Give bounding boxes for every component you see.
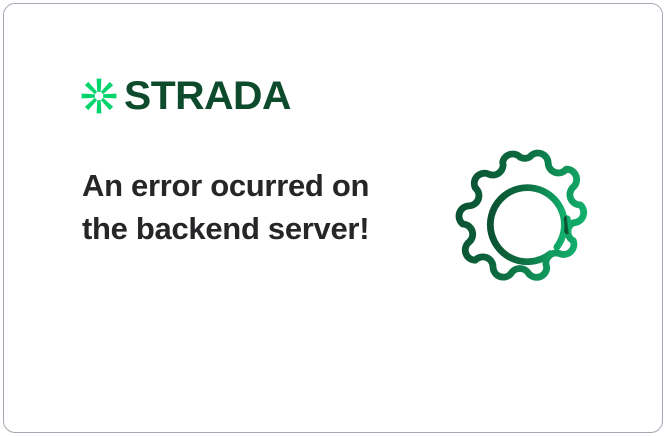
gear-illustration: [452, 146, 608, 302]
error-message: An error ocurred on the backend server!: [82, 164, 382, 250]
error-page: STRADA An error ocurred on the backend s…: [0, 0, 666, 436]
brand-wordmark: STRADA: [124, 76, 291, 116]
strada-asterisk-icon: [80, 77, 118, 115]
brand-logo: STRADA: [80, 74, 288, 118]
error-card: STRADA An error ocurred on the backend s…: [3, 3, 663, 433]
